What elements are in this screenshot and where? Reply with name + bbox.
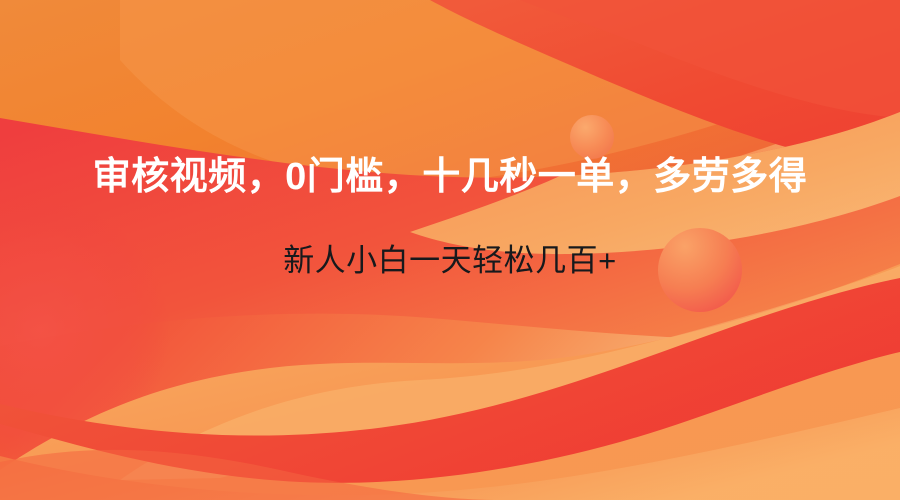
- small-accent-circle: [570, 115, 614, 159]
- background-artwork: [0, 0, 900, 500]
- large-accent-circle: [658, 228, 742, 312]
- promo-banner: 审核视频，0门槛，十几秒一单，多劳多得 新人小白一天轻松几百+: [0, 0, 900, 500]
